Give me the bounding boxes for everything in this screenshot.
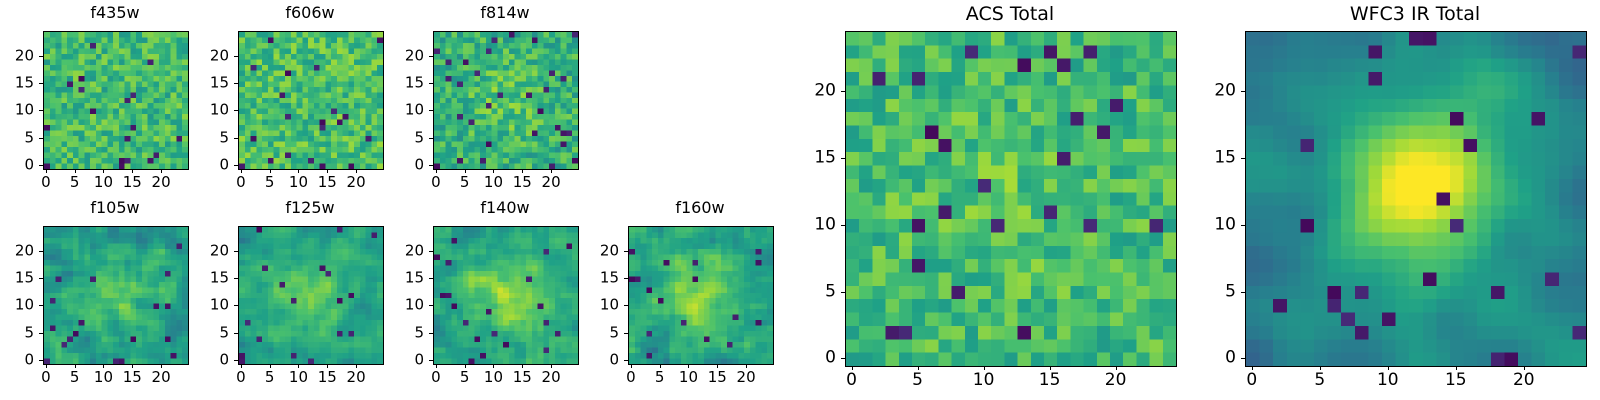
heatmap-image [434,227,578,364]
y-tick-f125w-10 [234,305,238,306]
y-tick-f140w-15 [429,278,433,279]
x-ticklabel-f125w-10: 10 [289,370,308,385]
panel-title-f435w: f435w [43,5,187,21]
y-tick-wfc3_ir_total-0 [1241,358,1245,359]
y-ticklabel-f105w-10: 10 [0,298,34,313]
y-ticklabel-f140w-0: 0 [373,353,424,368]
x-ticklabel-acs_total-10: 10 [973,372,995,389]
x-ticklabel-wfc3_ir_total-5: 5 [1314,372,1325,389]
y-tick-f125w-20 [234,251,238,252]
y-ticklabel-f435w-0: 0 [0,158,34,173]
y-ticklabel-f140w-10: 10 [373,298,424,313]
x-ticklabel-f435w-5: 5 [70,175,80,190]
y-ticklabel-f435w-15: 15 [0,76,34,91]
y-ticklabel-f125w-0: 0 [178,353,229,368]
x-ticklabel-acs_total-5: 5 [912,372,923,389]
x-ticklabel-f435w-20: 20 [152,175,171,190]
y-ticklabel-f105w-20: 20 [0,243,34,258]
panel-title-f140w: f140w [433,200,577,216]
y-ticklabel-f435w-20: 20 [0,48,34,63]
y-ticklabel-f606w-5: 5 [178,130,229,145]
heatmap-image [239,32,383,169]
panel-f606w: f606w0510152005101520 [178,3,402,200]
panel-wfc3_ir_total: WFC3 IR Total0510152005101520 [1185,3,1600,397]
panel-f125w: f125w0510152005101520 [178,198,402,395]
x-ticklabel-f140w-0: 0 [431,370,441,385]
x-ticklabel-f105w-15: 15 [123,370,142,385]
x-tick-f125w-0 [241,364,242,368]
y-tick-wfc3_ir_total-15 [1241,158,1245,159]
heatmap-image [846,32,1176,366]
axes-wfc3_ir_total [1245,31,1587,367]
y-tick-acs_total-10 [841,225,845,226]
x-ticklabel-f125w-15: 15 [318,370,337,385]
y-ticklabel-f606w-15: 15 [178,76,229,91]
y-ticklabel-wfc3_ir_total-15: 15 [1185,149,1236,166]
y-ticklabel-f125w-10: 10 [178,298,229,313]
x-ticklabel-f125w-20: 20 [347,370,366,385]
x-ticklabel-wfc3_ir_total-0: 0 [1246,372,1257,389]
y-tick-f105w-15 [39,278,43,279]
x-ticklabel-f105w-20: 20 [152,370,171,385]
x-tick-f140w-20 [551,364,552,368]
panel-f140w: f140w0510152005101520 [373,198,597,395]
y-tick-f140w-20 [429,251,433,252]
y-ticklabel-f140w-15: 15 [373,271,424,286]
x-tick-f606w-5 [270,169,271,173]
y-ticklabel-f125w-20: 20 [178,243,229,258]
y-ticklabel-acs_total-15: 15 [785,149,836,166]
x-tick-f814w-10 [493,169,494,173]
y-tick-f105w-20 [39,251,43,252]
axes-f814w [433,31,579,170]
heatmap-image [1246,32,1586,366]
x-ticklabel-f105w-0: 0 [41,370,51,385]
y-tick-acs_total-20 [841,91,845,92]
y-tick-f435w-20 [39,56,43,57]
x-ticklabel-acs_total-20: 20 [1105,372,1127,389]
x-tick-f105w-10 [103,364,104,368]
x-ticklabel-f125w-5: 5 [265,370,275,385]
x-tick-f140w-5 [465,364,466,368]
y-ticklabel-f125w-5: 5 [178,325,229,340]
y-ticklabel-f160w-10: 10 [568,298,619,313]
y-tick-f606w-5 [234,138,238,139]
y-ticklabel-f814w-10: 10 [373,103,424,118]
y-ticklabel-acs_total-0: 0 [785,350,836,367]
y-tick-f435w-0 [39,165,43,166]
y-ticklabel-f435w-5: 5 [0,130,34,145]
x-ticklabel-f160w-5: 5 [655,370,665,385]
x-tick-f435w-10 [103,169,104,173]
x-tick-f435w-20 [161,169,162,173]
x-tick-f125w-20 [356,364,357,368]
y-tick-f125w-15 [234,278,238,279]
panel-title-acs_total: ACS Total [845,5,1175,24]
y-tick-f140w-10 [429,305,433,306]
y-tick-wfc3_ir_total-20 [1241,91,1245,92]
x-tick-wfc3_ir_total-15 [1456,366,1457,370]
y-ticklabel-f606w-20: 20 [178,48,229,63]
panel-title-f606w: f606w [238,5,382,21]
y-ticklabel-acs_total-5: 5 [785,283,836,300]
y-tick-wfc3_ir_total-10 [1241,225,1245,226]
y-ticklabel-f160w-0: 0 [568,353,619,368]
panel-f105w: f105w0510152005101520 [0,198,207,395]
axes-acs_total [845,31,1177,367]
x-ticklabel-f140w-10: 10 [484,370,503,385]
y-ticklabel-f160w-5: 5 [568,325,619,340]
y-tick-f140w-0 [429,360,433,361]
panel-title-f814w: f814w [433,5,577,21]
x-ticklabel-f140w-15: 15 [513,370,532,385]
axes-f606w [238,31,384,170]
panel-title-f105w: f105w [43,200,187,216]
y-tick-f606w-0 [234,165,238,166]
panel-f814w: f814w0510152005101520 [373,3,597,200]
x-tick-f160w-10 [688,364,689,368]
x-tick-wfc3_ir_total-5 [1320,366,1321,370]
y-ticklabel-acs_total-20: 20 [785,83,836,100]
x-tick-f105w-0 [46,364,47,368]
x-tick-acs_total-10 [984,366,985,370]
y-ticklabel-wfc3_ir_total-0: 0 [1185,350,1236,367]
panel-title-f160w: f160w [628,200,772,216]
x-tick-f606w-0 [241,169,242,173]
x-ticklabel-f814w-15: 15 [513,175,532,190]
x-ticklabel-wfc3_ir_total-20: 20 [1513,372,1535,389]
panel-title-wfc3_ir_total: WFC3 IR Total [1245,5,1585,24]
y-ticklabel-wfc3_ir_total-5: 5 [1185,283,1236,300]
heatmap-image [44,227,188,364]
heatmap-image [434,32,578,169]
x-tick-f125w-10 [298,364,299,368]
x-tick-f125w-5 [270,364,271,368]
x-ticklabel-f160w-20: 20 [737,370,756,385]
y-tick-f160w-15 [624,278,628,279]
y-ticklabel-f814w-15: 15 [373,76,424,91]
heatmap-image [44,32,188,169]
y-ticklabel-f125w-15: 15 [178,271,229,286]
x-ticklabel-f606w-15: 15 [318,175,337,190]
x-ticklabel-f606w-10: 10 [289,175,308,190]
x-tick-f140w-0 [436,364,437,368]
x-tick-f140w-15 [522,364,523,368]
x-ticklabel-acs_total-0: 0 [846,372,857,389]
y-ticklabel-f160w-15: 15 [568,271,619,286]
x-ticklabel-f814w-10: 10 [484,175,503,190]
y-tick-f814w-20 [429,56,433,57]
x-ticklabel-f105w-10: 10 [94,370,113,385]
y-ticklabel-f814w-0: 0 [373,158,424,173]
y-tick-f435w-5 [39,138,43,139]
x-ticklabel-f606w-5: 5 [265,175,275,190]
x-tick-f160w-0 [631,364,632,368]
x-ticklabel-f125w-0: 0 [236,370,246,385]
y-ticklabel-f140w-5: 5 [373,325,424,340]
x-tick-f814w-20 [551,169,552,173]
x-tick-f814w-15 [522,169,523,173]
x-tick-f814w-0 [436,169,437,173]
x-tick-acs_total-15 [1050,366,1051,370]
heatmap-image [629,227,773,364]
y-ticklabel-f105w-0: 0 [0,353,34,368]
y-tick-f160w-0 [624,360,628,361]
y-tick-f125w-0 [234,360,238,361]
figure-canvas: f435w0510152005101520f606w05101520051015… [0,0,1600,400]
y-tick-f435w-15 [39,83,43,84]
x-tick-f435w-5 [75,169,76,173]
x-tick-f606w-15 [327,169,328,173]
y-ticklabel-wfc3_ir_total-10: 10 [1185,216,1236,233]
y-tick-f814w-5 [429,138,433,139]
y-tick-f160w-20 [624,251,628,252]
heatmap-image [239,227,383,364]
x-tick-wfc3_ir_total-20 [1524,366,1525,370]
panel-title-f125w: f125w [238,200,382,216]
y-tick-f814w-0 [429,165,433,166]
x-ticklabel-f435w-0: 0 [41,175,51,190]
x-ticklabel-f606w-0: 0 [236,175,246,190]
x-tick-f125w-15 [327,364,328,368]
x-tick-acs_total-5 [918,366,919,370]
x-tick-acs_total-0 [852,366,853,370]
y-ticklabel-wfc3_ir_total-20: 20 [1185,83,1236,100]
axes-f435w [43,31,189,170]
y-ticklabel-f435w-10: 10 [0,103,34,118]
y-tick-f606w-20 [234,56,238,57]
x-tick-f105w-15 [132,364,133,368]
x-tick-f435w-0 [46,169,47,173]
y-tick-f125w-5 [234,333,238,334]
y-tick-f105w-5 [39,333,43,334]
y-tick-f606w-15 [234,83,238,84]
x-ticklabel-f606w-20: 20 [347,175,366,190]
x-ticklabel-f160w-0: 0 [626,370,636,385]
axes-f140w [433,226,579,365]
x-tick-f160w-5 [660,364,661,368]
y-tick-acs_total-15 [841,158,845,159]
panel-f435w: f435w0510152005101520 [0,3,207,200]
x-tick-f814w-5 [465,169,466,173]
panel-f160w: f160w0510152005101520 [568,198,792,395]
y-ticklabel-acs_total-10: 10 [785,216,836,233]
x-tick-wfc3_ir_total-10 [1388,366,1389,370]
y-tick-f140w-5 [429,333,433,334]
y-tick-f160w-5 [624,333,628,334]
panel-acs_total: ACS Total0510152005101520 [785,3,1195,397]
x-tick-f160w-15 [717,364,718,368]
y-tick-f814w-10 [429,110,433,111]
x-tick-wfc3_ir_total-0 [1252,366,1253,370]
y-tick-wfc3_ir_total-5 [1241,292,1245,293]
x-tick-f606w-20 [356,169,357,173]
x-ticklabel-acs_total-15: 15 [1039,372,1061,389]
x-ticklabel-f814w-5: 5 [460,175,470,190]
y-ticklabel-f140w-20: 20 [373,243,424,258]
x-tick-f140w-10 [493,364,494,368]
y-tick-f606w-10 [234,110,238,111]
x-ticklabel-wfc3_ir_total-10: 10 [1377,372,1399,389]
x-ticklabel-f140w-5: 5 [460,370,470,385]
x-ticklabel-wfc3_ir_total-15: 15 [1445,372,1467,389]
x-ticklabel-f435w-15: 15 [123,175,142,190]
x-tick-f160w-20 [746,364,747,368]
axes-f125w [238,226,384,365]
axes-f105w [43,226,189,365]
x-ticklabel-f814w-20: 20 [542,175,561,190]
x-tick-f105w-5 [75,364,76,368]
y-ticklabel-f105w-15: 15 [0,271,34,286]
y-ticklabel-f606w-0: 0 [178,158,229,173]
y-ticklabel-f814w-20: 20 [373,48,424,63]
y-tick-f105w-0 [39,360,43,361]
x-ticklabel-f160w-10: 10 [679,370,698,385]
y-tick-acs_total-0 [841,358,845,359]
x-tick-f435w-15 [132,169,133,173]
y-ticklabel-f606w-10: 10 [178,103,229,118]
x-ticklabel-f814w-0: 0 [431,175,441,190]
x-tick-f606w-10 [298,169,299,173]
y-tick-acs_total-5 [841,292,845,293]
x-tick-acs_total-20 [1116,366,1117,370]
x-ticklabel-f160w-15: 15 [708,370,727,385]
y-tick-f814w-15 [429,83,433,84]
x-ticklabel-f435w-10: 10 [94,175,113,190]
y-ticklabel-f105w-5: 5 [0,325,34,340]
y-tick-f160w-10 [624,305,628,306]
y-ticklabel-f160w-20: 20 [568,243,619,258]
y-ticklabel-f814w-5: 5 [373,130,424,145]
x-ticklabel-f105w-5: 5 [70,370,80,385]
x-ticklabel-f140w-20: 20 [542,370,561,385]
axes-f160w [628,226,774,365]
x-tick-f105w-20 [161,364,162,368]
y-tick-f105w-10 [39,305,43,306]
y-tick-f435w-10 [39,110,43,111]
